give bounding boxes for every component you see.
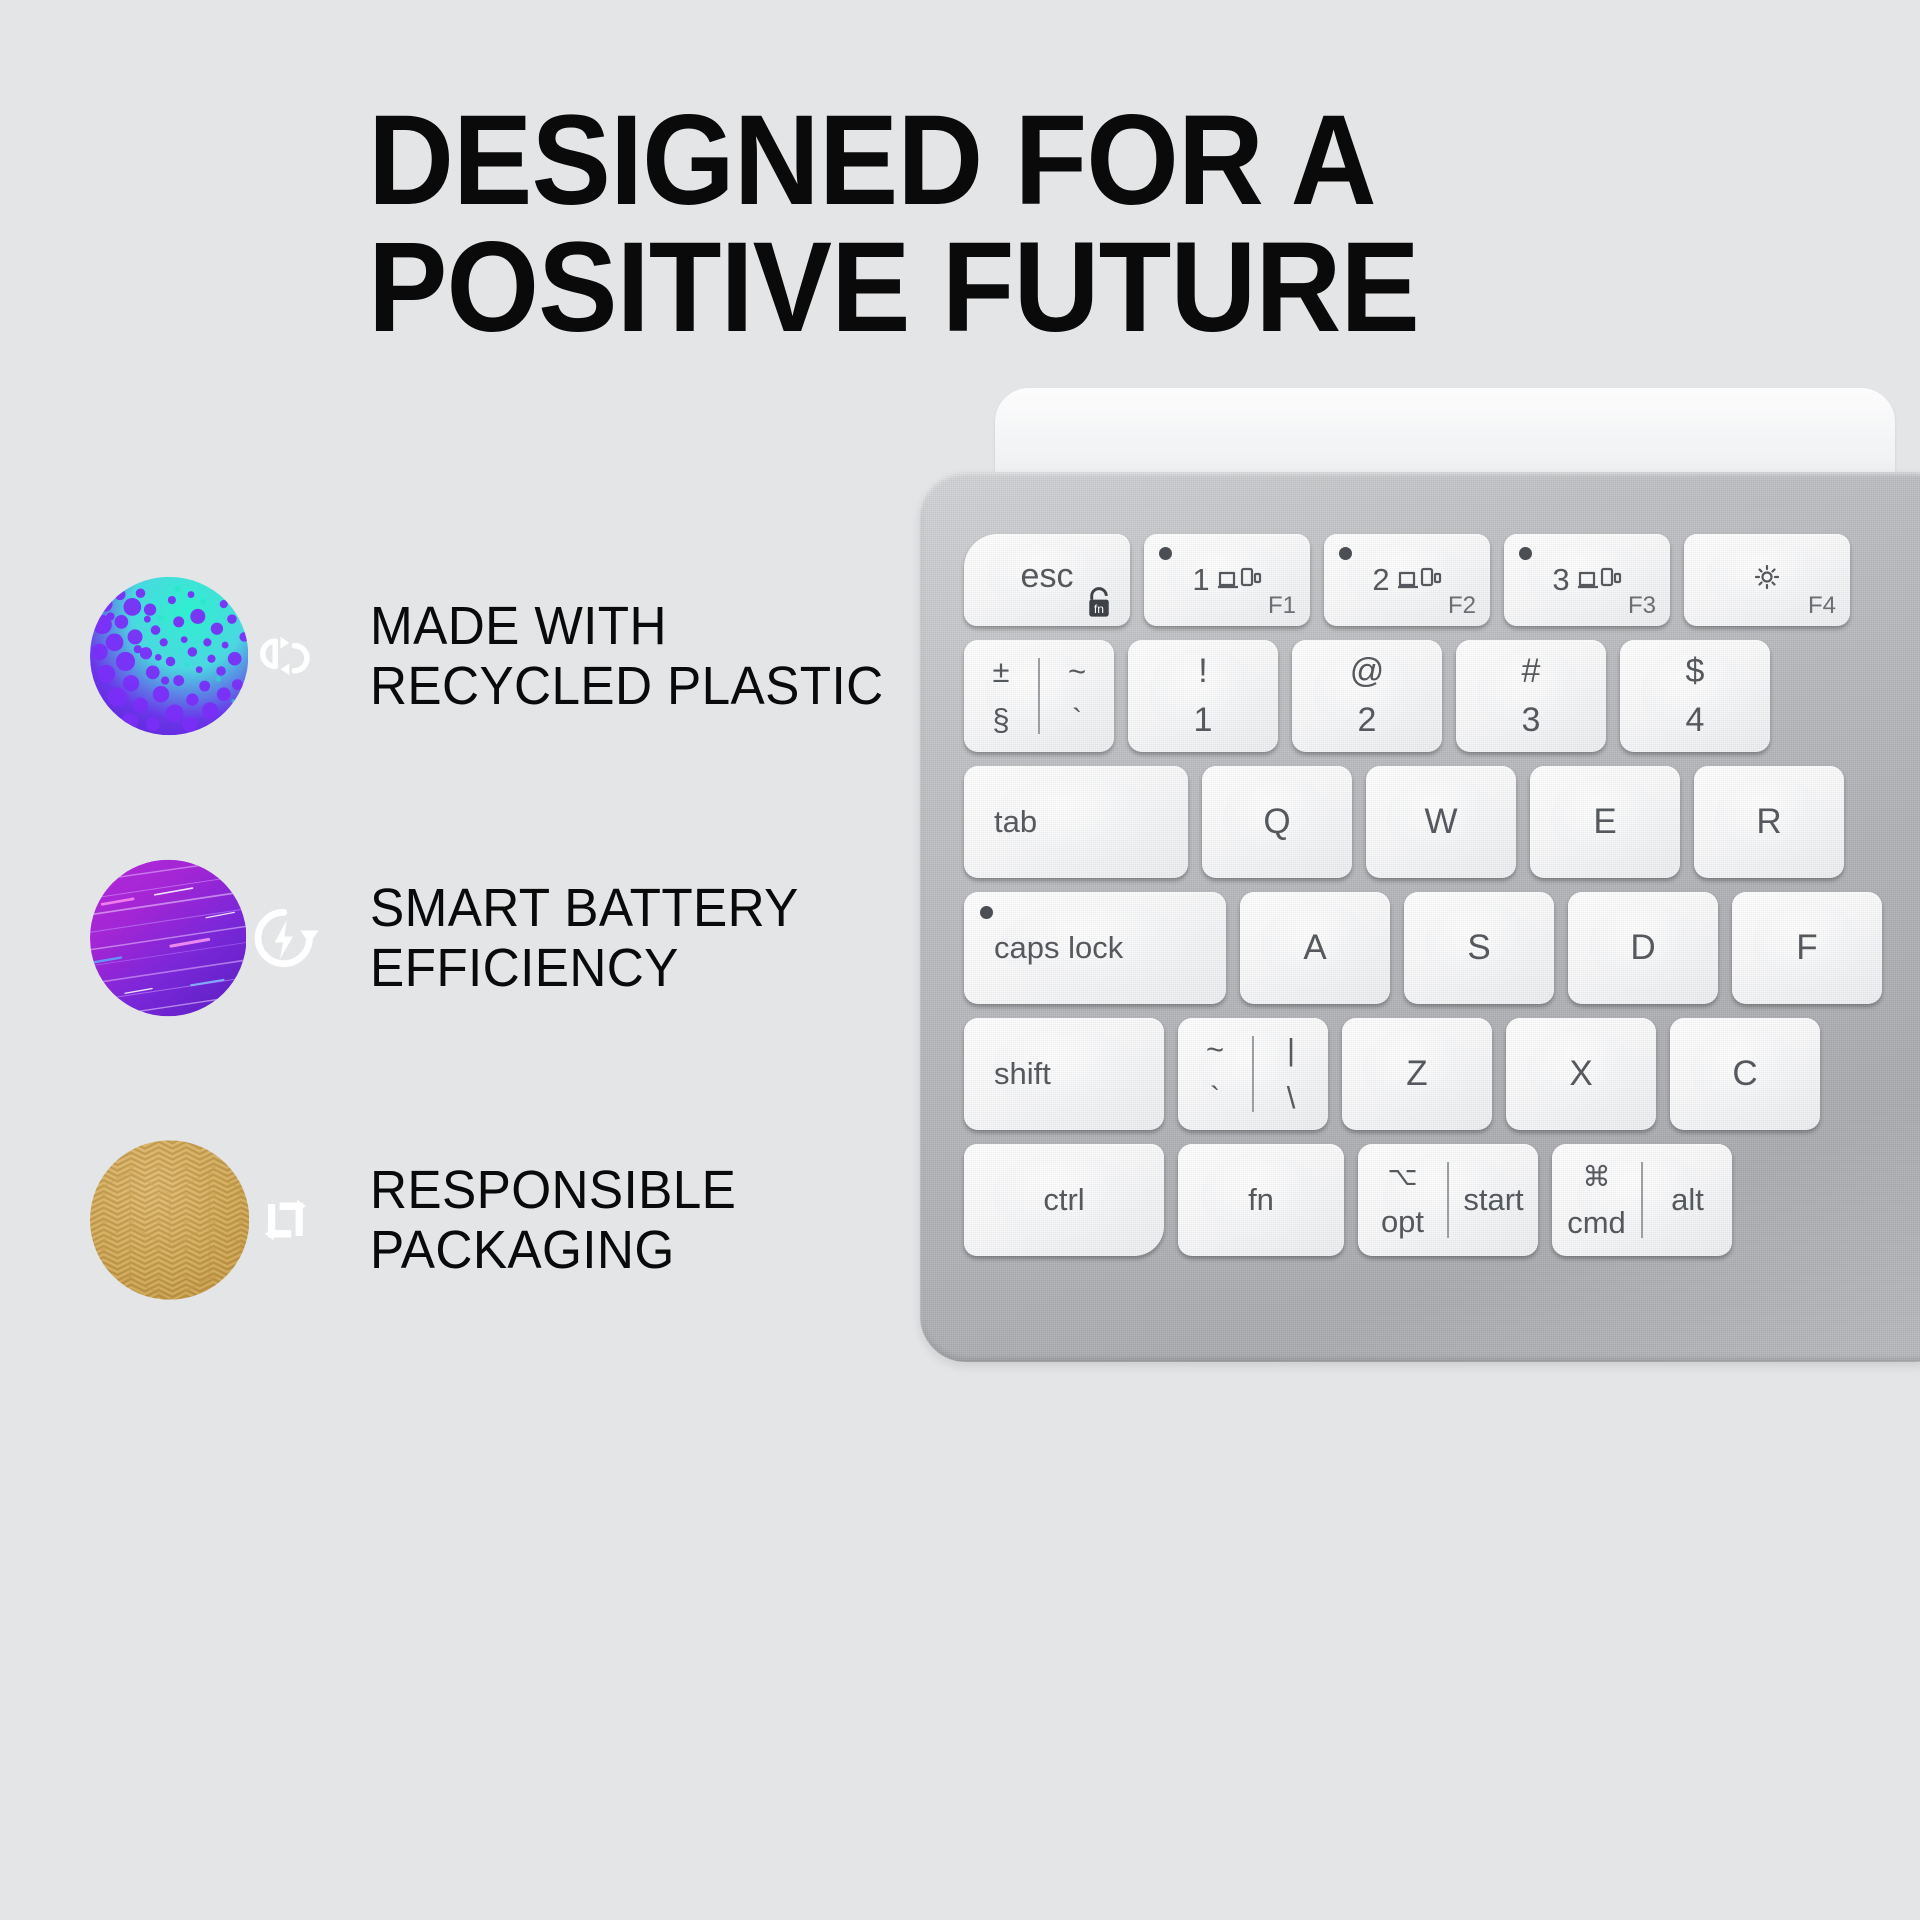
- key-ctrl-label: ctrl: [964, 1182, 1164, 1218]
- key-section-right: ~ `: [1040, 640, 1114, 752]
- key-f1[interactable]: 1 F1: [1144, 534, 1310, 626]
- keyboard-key-area: esc fn 1: [964, 534, 1920, 1362]
- brightness-icon: [1750, 562, 1784, 592]
- key-4-base: 4: [1686, 701, 1705, 740]
- key-alt-label: alt: [1671, 1182, 1704, 1218]
- key-cmd-alt[interactable]: ⌘ cmd alt: [1552, 1144, 1732, 1256]
- key-section-faces: ± § ~ `: [964, 640, 1114, 752]
- key-opt-start[interactable]: ⌥ opt start: [1358, 1144, 1538, 1256]
- devices-icon: [1216, 565, 1262, 595]
- key-f1-digit: 1: [1192, 562, 1209, 598]
- key-4[interactable]: $ 4: [1620, 640, 1770, 752]
- key-3-shift: #: [1522, 652, 1541, 691]
- key-backslash-pipe: |: [1287, 1032, 1295, 1068]
- key-2-base: 2: [1358, 701, 1377, 740]
- feature-label-responsible-packaging: RESPONSIBLE PACKAGING: [370, 1160, 736, 1281]
- key-f4[interactable]: F4: [1684, 534, 1850, 626]
- f2-status-dot: [1339, 547, 1352, 560]
- key-2-faces: @ 2: [1292, 640, 1442, 752]
- key-shift[interactable]: shift: [964, 1018, 1164, 1130]
- key-f4-sub: F4: [1808, 592, 1836, 620]
- page-title: DESIGNED FOR A POSITIVE FUTURE: [368, 98, 1628, 351]
- keyboard-product-image: esc fn 1: [900, 380, 1920, 1380]
- headline-line-2: POSITIVE FUTURE: [368, 225, 1540, 352]
- key-backslash-left: ~ `: [1178, 1018, 1252, 1130]
- key-2-shift: @: [1350, 652, 1385, 691]
- command-glyph-icon: ⌘: [1583, 1160, 1611, 1193]
- key-4-faces: $ 4: [1620, 640, 1770, 752]
- keyboard-row-modifier: ctrl fn ⌥ opt start: [964, 1144, 1746, 1256]
- key-d-label: D: [1568, 928, 1718, 968]
- key-backslash[interactable]: ~ ` | \: [1178, 1018, 1328, 1130]
- key-w-label: W: [1366, 802, 1516, 842]
- devices-icon: [1576, 565, 1622, 595]
- key-section-sign: §: [992, 702, 1009, 738]
- key-q[interactable]: Q: [1202, 766, 1352, 878]
- key-fn[interactable]: fn: [1178, 1144, 1344, 1256]
- key-r-label: R: [1694, 802, 1844, 842]
- feature-list: MADE WITH RECYCLED PLASTIC: [90, 515, 920, 1361]
- key-section-plusminus: ±: [992, 654, 1009, 690]
- key-w[interactable]: W: [1366, 766, 1516, 878]
- key-f-label: F: [1732, 928, 1882, 968]
- keyboard-row-shift: shift ~ ` | \: [964, 1018, 1834, 1130]
- key-esc[interactable]: esc fn: [964, 534, 1130, 626]
- key-cmd-left: ⌘ cmd: [1552, 1144, 1641, 1256]
- key-3-faces: # 3: [1456, 640, 1606, 752]
- key-tab[interactable]: tab: [964, 766, 1188, 878]
- key-opt-start-faces: ⌥ opt start: [1358, 1144, 1538, 1256]
- key-z-label: Z: [1342, 1054, 1492, 1094]
- key-x[interactable]: X: [1506, 1018, 1656, 1130]
- key-caps-lock-label: caps lock: [964, 930, 1226, 966]
- key-f2-digit: 2: [1372, 562, 1389, 598]
- feature-item-battery-efficiency: SMART BATTERY EFFICIENCY: [90, 797, 920, 1079]
- devices-icon: [1396, 565, 1442, 595]
- feature-item-recycled-plastic: MADE WITH RECYCLED PLASTIC: [90, 515, 920, 797]
- key-f4-main: [1684, 562, 1850, 592]
- key-fn-label: fn: [1178, 1182, 1344, 1218]
- responsible-packaging-texture: [90, 1104, 249, 1336]
- key-f1-sub: F1: [1268, 592, 1296, 620]
- option-glyph-icon: ⌥: [1388, 1161, 1418, 1192]
- key-backslash-grave: `: [1210, 1080, 1220, 1116]
- keyboard-row-number: ± § ~ ` ! 1: [964, 640, 1784, 752]
- key-cmd-label: cmd: [1567, 1205, 1626, 1241]
- caps-lock-status-dot: [980, 906, 993, 919]
- keyboard-row-function: esc fn 1: [964, 534, 1864, 626]
- key-cmd-alt-faces: ⌘ cmd alt: [1552, 1144, 1732, 1256]
- keyboard-row-home: caps lock A S D F: [964, 892, 1896, 1004]
- key-shift-label: shift: [964, 1056, 1164, 1092]
- key-f[interactable]: F: [1732, 892, 1882, 1004]
- key-1-base: 1: [1194, 701, 1213, 740]
- key-x-label: X: [1506, 1054, 1656, 1094]
- svg-text:fn: fn: [1094, 602, 1104, 616]
- key-caps-lock[interactable]: caps lock: [964, 892, 1226, 1004]
- f1-status-dot: [1159, 547, 1172, 560]
- key-a[interactable]: A: [1240, 892, 1390, 1004]
- badge-recycled-plastic: [90, 540, 322, 772]
- battery-efficiency-texture: [90, 822, 246, 1054]
- key-a-label: A: [1240, 928, 1390, 968]
- key-c[interactable]: C: [1670, 1018, 1820, 1130]
- key-1-shift: !: [1198, 652, 1207, 691]
- key-2[interactable]: @ 2: [1292, 640, 1442, 752]
- key-opt-left: ⌥ opt: [1358, 1144, 1447, 1256]
- key-backslash-tilde: ~: [1206, 1032, 1224, 1068]
- key-3[interactable]: # 3: [1456, 640, 1606, 752]
- key-r[interactable]: R: [1694, 766, 1844, 878]
- key-f2-sub: F2: [1448, 592, 1476, 620]
- key-f2[interactable]: 2 F2: [1324, 534, 1490, 626]
- key-backslash-right: | \: [1254, 1018, 1328, 1130]
- key-f3-digit: 3: [1552, 562, 1569, 598]
- package-loop-arrow-icon: [249, 1167, 322, 1273]
- key-3-base: 3: [1522, 701, 1541, 740]
- key-e[interactable]: E: [1530, 766, 1680, 878]
- key-section-left: ± §: [964, 640, 1038, 752]
- fn-lock-icon: fn: [1084, 585, 1114, 619]
- key-f3[interactable]: 3 F3: [1504, 534, 1670, 626]
- key-s-label: S: [1404, 928, 1554, 968]
- keyboard-chassis: esc fn 1: [920, 472, 1920, 1362]
- feature-label-battery-efficiency: SMART BATTERY EFFICIENCY: [370, 878, 799, 999]
- key-ctrl[interactable]: ctrl: [964, 1144, 1164, 1256]
- key-4-shift: $: [1686, 652, 1705, 691]
- key-q-label: Q: [1202, 802, 1352, 842]
- key-start-right: start: [1449, 1144, 1538, 1256]
- key-backslash-slash: \: [1287, 1080, 1296, 1116]
- key-section[interactable]: ± § ~ `: [964, 640, 1114, 752]
- key-z[interactable]: Z: [1342, 1018, 1492, 1130]
- key-1[interactable]: ! 1: [1128, 640, 1278, 752]
- key-alt-right: alt: [1643, 1144, 1732, 1256]
- key-start-label: start: [1463, 1182, 1523, 1218]
- key-1-faces: ! 1: [1128, 640, 1278, 752]
- headline-line-1: DESIGNED FOR A: [368, 98, 1540, 225]
- key-e-label: E: [1530, 802, 1680, 842]
- key-tab-label: tab: [964, 804, 1188, 840]
- recycled-plastic-texture: [90, 540, 248, 772]
- feature-item-responsible-packaging: RESPONSIBLE PACKAGING: [90, 1079, 920, 1361]
- key-s[interactable]: S: [1404, 892, 1554, 1004]
- recycle-arrows-icon: [248, 602, 322, 710]
- key-section-grave: `: [1072, 702, 1082, 738]
- key-backslash-faces: ~ ` | \: [1178, 1018, 1328, 1130]
- badge-responsible-packaging: [90, 1104, 322, 1336]
- key-c-label: C: [1670, 1054, 1820, 1094]
- key-section-tilde: ~: [1068, 654, 1086, 690]
- battery-refresh-bolt-icon: [246, 882, 322, 994]
- key-opt-label: opt: [1381, 1204, 1424, 1240]
- key-d[interactable]: D: [1568, 892, 1718, 1004]
- badge-battery-efficiency: [90, 822, 322, 1054]
- key-f3-sub: F3: [1628, 592, 1656, 620]
- keyboard-row-qwerty: tab Q W E R: [964, 766, 1858, 878]
- feature-label-recycled-plastic: MADE WITH RECYCLED PLASTIC: [370, 596, 884, 717]
- f3-status-dot: [1519, 547, 1532, 560]
